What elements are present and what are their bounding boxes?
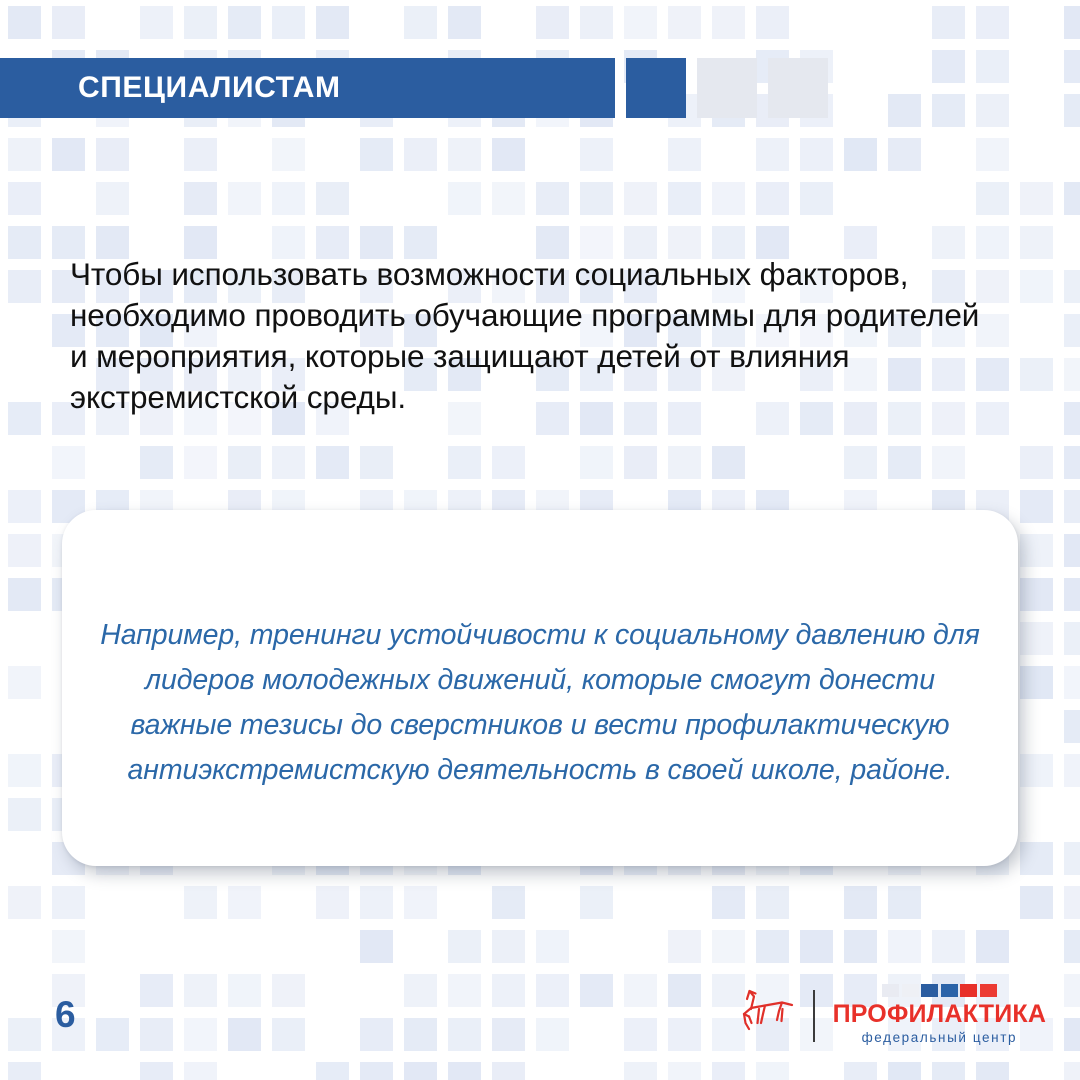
background-square — [932, 50, 965, 83]
main-paragraph: Чтобы использовать возможности социальны… — [70, 254, 1000, 418]
background-square — [668, 6, 701, 39]
background-square — [888, 930, 921, 963]
background-square — [360, 446, 393, 479]
background-square — [1064, 842, 1080, 875]
background-square — [404, 974, 437, 1007]
background-square — [8, 798, 41, 831]
background-square — [1020, 446, 1053, 479]
background-square — [1020, 358, 1053, 391]
slide: СПЕЦИАЛИСТАМ Чтобы использовать возможно… — [0, 0, 1080, 1080]
background-square — [228, 182, 261, 215]
background-square — [52, 138, 85, 171]
background-square — [1020, 886, 1053, 919]
background-square — [580, 138, 613, 171]
background-square — [712, 886, 745, 919]
background-square — [96, 182, 129, 215]
background-square — [536, 182, 569, 215]
background-square — [272, 6, 305, 39]
background-square — [844, 1062, 877, 1080]
background-square — [976, 6, 1009, 39]
background-square — [1064, 710, 1080, 743]
background-square — [580, 974, 613, 1007]
background-square — [448, 1018, 481, 1051]
background-square — [536, 1018, 569, 1051]
background-square — [668, 1018, 701, 1051]
logo-square-5 — [960, 984, 977, 997]
background-square — [888, 886, 921, 919]
background-square — [1064, 886, 1080, 919]
background-square — [316, 182, 349, 215]
background-square — [448, 974, 481, 1007]
background-square — [404, 6, 437, 39]
background-square — [140, 1062, 173, 1080]
background-square — [404, 138, 437, 171]
background-square — [1064, 578, 1080, 611]
background-square — [1020, 226, 1053, 259]
background-square — [712, 1062, 745, 1080]
background-square — [976, 182, 1009, 215]
background-square — [1064, 1018, 1080, 1051]
background-square — [668, 182, 701, 215]
background-square — [8, 6, 41, 39]
background-square — [668, 974, 701, 1007]
background-square — [580, 886, 613, 919]
background-square — [8, 182, 41, 215]
background-square — [712, 6, 745, 39]
background-square — [8, 226, 41, 259]
background-square — [712, 182, 745, 215]
background-square — [976, 50, 1009, 83]
background-square — [1020, 270, 1053, 303]
background-square — [96, 138, 129, 171]
horse-line-art-icon — [735, 987, 797, 1045]
header-bar: СПЕЦИАЛИСТАМ — [0, 58, 615, 118]
background-square — [8, 534, 41, 567]
background-square — [712, 930, 745, 963]
background-square — [1064, 358, 1080, 391]
background-square — [272, 446, 305, 479]
background-square — [1020, 578, 1053, 611]
background-square — [1064, 930, 1080, 963]
background-square — [580, 6, 613, 39]
background-square — [8, 578, 41, 611]
background-square — [1020, 754, 1053, 787]
background-square — [360, 1018, 393, 1051]
background-square — [448, 138, 481, 171]
background-square — [8, 270, 41, 303]
background-square — [316, 446, 349, 479]
background-square — [1064, 6, 1080, 39]
background-square — [1064, 402, 1080, 435]
background-square — [756, 1062, 789, 1080]
background-square — [668, 138, 701, 171]
logo-name: ПРОФИЛАКТИКА — [833, 1001, 1047, 1027]
background-square — [1064, 534, 1080, 567]
background-square — [8, 1018, 41, 1051]
background-square — [184, 182, 217, 215]
logo-subtitle: федеральный центр — [862, 1029, 1018, 1048]
background-square — [184, 1018, 217, 1051]
background-square — [184, 974, 217, 1007]
background-square — [448, 446, 481, 479]
page-title: СПЕЦИАЛИСТАМ — [78, 73, 341, 103]
background-square — [492, 930, 525, 963]
background-square — [1064, 490, 1080, 523]
background-square — [360, 1062, 393, 1080]
background-square — [844, 930, 877, 963]
background-square — [272, 138, 305, 171]
logo-text-block: ПРОФИЛАКТИКА федеральный центр — [833, 984, 1047, 1047]
logo-square-2 — [902, 984, 919, 997]
background-square — [316, 1062, 349, 1080]
background-square — [492, 446, 525, 479]
background-square — [492, 886, 525, 919]
background-square — [536, 6, 569, 39]
background-square — [1020, 666, 1053, 699]
background-square — [96, 1018, 129, 1051]
background-square — [1064, 270, 1080, 303]
background-square — [668, 930, 701, 963]
background-square — [624, 446, 657, 479]
header-block-gray-1 — [697, 58, 757, 118]
background-square — [8, 138, 41, 171]
background-square — [492, 138, 525, 171]
logo-square-row — [882, 984, 997, 997]
background-square — [8, 1062, 41, 1080]
background-square — [756, 182, 789, 215]
background-square — [448, 930, 481, 963]
background-square — [448, 6, 481, 39]
background-square — [1064, 754, 1080, 787]
background-square — [1064, 622, 1080, 655]
background-square — [1064, 94, 1080, 127]
logo-divider — [813, 990, 815, 1042]
background-square — [184, 138, 217, 171]
logo-square-1 — [882, 984, 899, 997]
background-square — [52, 6, 85, 39]
background-square — [624, 182, 657, 215]
background-square — [1020, 622, 1053, 655]
background-square — [668, 1062, 701, 1080]
background-square — [404, 886, 437, 919]
background-square — [624, 1018, 657, 1051]
background-square — [140, 446, 173, 479]
background-square — [8, 754, 41, 787]
background-square — [756, 6, 789, 39]
background-square — [404, 1062, 437, 1080]
background-square — [888, 94, 921, 127]
background-square — [1020, 534, 1053, 567]
background-square — [976, 930, 1009, 963]
background-square — [228, 974, 261, 1007]
background-square — [492, 1018, 525, 1051]
background-square — [492, 974, 525, 1007]
background-square — [932, 446, 965, 479]
background-square — [52, 930, 85, 963]
background-square — [536, 974, 569, 1007]
background-square — [360, 138, 393, 171]
background-square — [492, 182, 525, 215]
background-square — [1020, 490, 1053, 523]
background-square — [756, 886, 789, 919]
background-square — [140, 6, 173, 39]
background-square — [580, 182, 613, 215]
background-square — [184, 6, 217, 39]
background-square — [1064, 974, 1080, 1007]
background-square — [8, 490, 41, 523]
logo-square-3 — [921, 984, 938, 997]
background-square — [976, 138, 1009, 171]
background-square — [8, 886, 41, 919]
background-square — [184, 886, 217, 919]
background-square — [624, 1062, 657, 1080]
header: СПЕЦИАЛИСТАМ — [0, 58, 828, 118]
example-quote-card: Например, тренинги устойчивости к социал… — [62, 510, 1018, 866]
background-square — [756, 138, 789, 171]
background-square — [668, 446, 701, 479]
background-square — [448, 1062, 481, 1080]
background-square — [580, 446, 613, 479]
background-square — [1064, 182, 1080, 215]
background-square — [932, 1062, 965, 1080]
background-square — [800, 182, 833, 215]
background-square — [712, 446, 745, 479]
background-square — [1064, 1062, 1080, 1080]
background-square — [316, 886, 349, 919]
background-square — [1064, 446, 1080, 479]
background-square — [1020, 182, 1053, 215]
background-square — [272, 974, 305, 1007]
logo-square-4 — [941, 984, 958, 997]
background-square — [976, 94, 1009, 127]
background-square — [800, 930, 833, 963]
footer-logo: ПРОФИЛАКТИКА федеральный центр — [735, 983, 1025, 1049]
background-square — [888, 138, 921, 171]
background-square — [932, 930, 965, 963]
background-square — [1020, 842, 1053, 875]
background-square — [932, 94, 965, 127]
background-square — [492, 1062, 525, 1080]
background-square — [404, 1018, 437, 1051]
background-square — [52, 446, 85, 479]
background-square — [844, 446, 877, 479]
logo-square-6 — [980, 984, 997, 997]
background-square — [756, 930, 789, 963]
background-square — [1064, 314, 1080, 347]
background-square — [976, 1062, 1009, 1080]
background-square — [844, 886, 877, 919]
header-block-blue — [626, 58, 686, 118]
background-square — [272, 1018, 305, 1051]
background-square — [1064, 50, 1080, 83]
background-square — [228, 886, 261, 919]
background-square — [888, 446, 921, 479]
background-square — [228, 6, 261, 39]
background-square — [932, 6, 965, 39]
example-quote-text: Например, тренинги устойчивости к социал… — [100, 613, 980, 793]
background-square — [140, 974, 173, 1007]
background-square — [360, 886, 393, 919]
background-square — [8, 402, 41, 435]
background-square — [624, 6, 657, 39]
background-square — [8, 666, 41, 699]
background-square — [1064, 666, 1080, 699]
background-square — [272, 182, 305, 215]
background-square — [360, 930, 393, 963]
background-square — [316, 6, 349, 39]
header-block-gray-2 — [768, 58, 828, 118]
background-square — [844, 138, 877, 171]
background-square — [624, 974, 657, 1007]
background-square — [184, 1062, 217, 1080]
background-square — [52, 886, 85, 919]
background-square — [448, 182, 481, 215]
background-square — [888, 1062, 921, 1080]
background-square — [800, 138, 833, 171]
background-square — [184, 446, 217, 479]
background-square — [228, 1018, 261, 1051]
page-number: 6 — [55, 996, 76, 1033]
background-square — [536, 930, 569, 963]
background-square — [228, 446, 261, 479]
background-square — [140, 1018, 173, 1051]
